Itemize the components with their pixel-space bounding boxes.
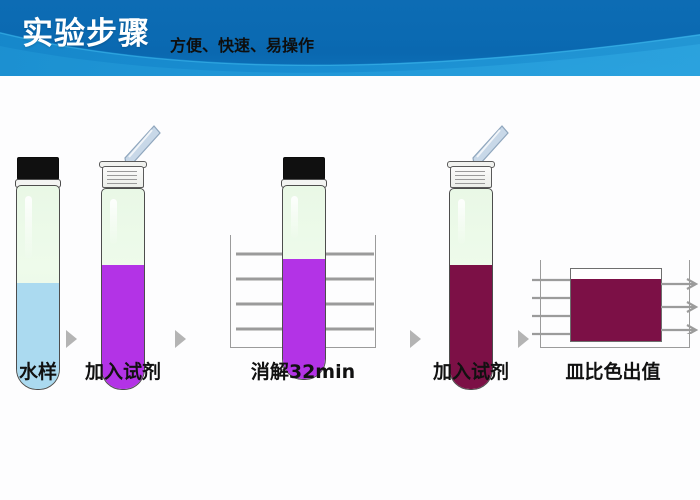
separator-3-icon xyxy=(410,330,421,348)
tube-cap-icon xyxy=(17,157,59,180)
separator-2-icon xyxy=(175,330,186,348)
step-5-label: 皿比色出值 xyxy=(548,360,678,384)
page-title: 实验步骤 xyxy=(22,16,150,52)
step-4-label: 加入试剂 xyxy=(423,360,519,384)
separator-1-icon xyxy=(66,330,77,348)
cuvette-liquid xyxy=(571,279,661,341)
cuvette xyxy=(570,268,662,342)
separator-4-icon xyxy=(518,330,529,348)
tube-highlight xyxy=(25,196,32,258)
tube-highlight xyxy=(291,196,298,238)
page-header-banner: 实验步骤 方便、快速、易操作 xyxy=(0,0,700,76)
tube-highlight xyxy=(110,199,117,244)
step-3-label: 消解32min xyxy=(232,360,374,384)
tube-cap-icon xyxy=(283,157,325,180)
step-1-label: 水样 xyxy=(0,360,76,384)
experiment-steps-diagram: 水样 加入试剂 xyxy=(0,76,700,500)
step-2-label: 加入试剂 xyxy=(75,360,171,384)
tube-open-neck xyxy=(450,166,492,188)
tube-open-neck xyxy=(102,166,144,188)
tube-body-3 xyxy=(282,185,326,380)
light-beam-arrows-out xyxy=(659,276,700,334)
tube-highlight xyxy=(458,199,465,244)
page-subtitle: 方便、快速、易操作 xyxy=(170,36,314,56)
